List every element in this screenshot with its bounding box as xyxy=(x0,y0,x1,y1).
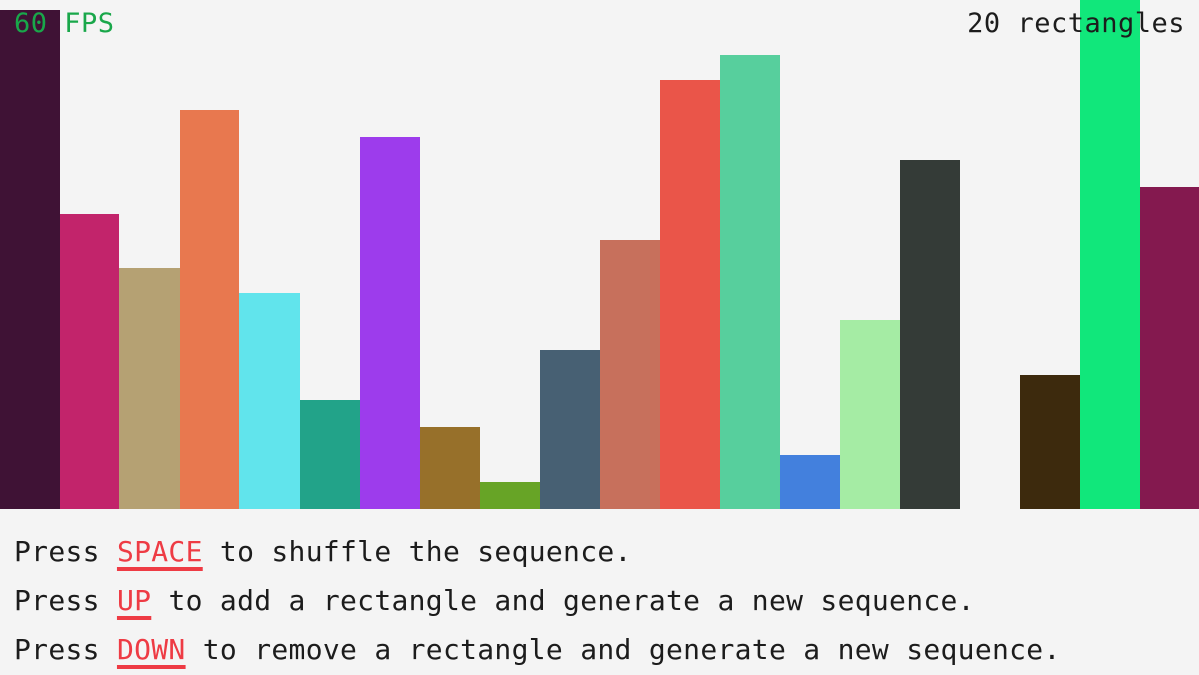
bar-4-cyan xyxy=(239,293,300,509)
bar-2-tan xyxy=(119,268,180,509)
bar-0-dark-plum xyxy=(0,10,60,509)
instruction-prefix: Press xyxy=(14,584,117,617)
key-space[interactable]: SPACE xyxy=(117,535,203,568)
rectangle-count-label: 20 rectangles xyxy=(967,10,1185,37)
fps-counter: 60 FPS xyxy=(14,10,115,37)
bar-5-teal xyxy=(300,400,360,509)
bar-19-maroon xyxy=(1140,187,1199,509)
instruction-line-2: Press DOWN to remove a rectangle and gen… xyxy=(14,625,1199,674)
bar-13-blue xyxy=(780,455,840,509)
bar-10-terracotta xyxy=(600,240,660,509)
bar-3-orange xyxy=(180,110,239,509)
bar-8-olive-green xyxy=(480,482,540,509)
key-up[interactable]: UP xyxy=(117,584,151,617)
app-canvas: 60 FPS 20 rectangles Press SPACE to shuf… xyxy=(0,0,1199,675)
instructions-panel: Press SPACE to shuffle the sequence.Pres… xyxy=(0,509,1199,675)
bar-15-charcoal xyxy=(900,160,960,509)
bar-7-brown-ochre xyxy=(420,427,480,509)
instruction-prefix: Press xyxy=(14,633,117,666)
bar-14-light-green xyxy=(840,320,900,509)
key-down[interactable]: DOWN xyxy=(117,633,186,666)
bar-9-slate-blue xyxy=(540,350,600,509)
instruction-line-1: Press UP to add a rectangle and generate… xyxy=(14,576,1199,625)
bar-17-dark-brown xyxy=(1020,375,1080,509)
bar-12-medium-green xyxy=(720,55,780,509)
bar-18-bright-green xyxy=(1080,0,1140,509)
bar-11-red xyxy=(660,80,720,509)
instruction-line-0: Press SPACE to shuffle the sequence. xyxy=(14,527,1199,576)
instruction-suffix: to shuffle the sequence. xyxy=(203,535,632,568)
bar-1-magenta xyxy=(60,214,119,509)
instruction-prefix: Press xyxy=(14,535,117,568)
instruction-suffix: to remove a rectangle and generate a new… xyxy=(186,633,1061,666)
instruction-suffix: to add a rectangle and generate a new se… xyxy=(151,584,975,617)
bar-chart xyxy=(0,0,1199,509)
bar-6-purple xyxy=(360,137,420,509)
